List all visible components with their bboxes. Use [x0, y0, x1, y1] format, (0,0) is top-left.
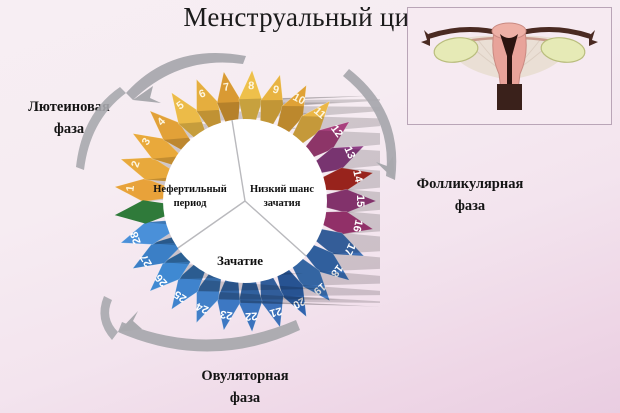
lowchance-line2: зачатия	[264, 198, 301, 209]
center-label-low-chance: Низкий шанс зачатия	[240, 183, 324, 211]
infertile-line1: Нефертильный	[153, 184, 227, 195]
infographic-canvas: Менструальный цикл	[0, 0, 620, 413]
petal-day-label-23: 23	[219, 308, 233, 322]
follicular-line1: Фолликулярная	[390, 173, 550, 195]
petal-shade-15	[319, 189, 380, 212]
label-follicular-phase: Фолликулярная фаза	[390, 173, 550, 218]
ovulatory-line2: фаза	[150, 387, 340, 409]
petal-day-label-8: 8	[248, 80, 255, 92]
lowchance-line1: Низкий шанс	[250, 184, 314, 195]
center-label-infertile: Нефертильный период	[148, 183, 232, 211]
petal-day-label-15: 15	[354, 195, 366, 207]
petal-day-label-22: 22	[245, 310, 258, 323]
petal-day-label-16: 16	[350, 218, 364, 233]
petal-day-label-1: 1	[124, 185, 137, 192]
follicular-line2: фаза	[390, 195, 550, 217]
infertile-line2: период	[174, 198, 207, 209]
conception-line1: Зачатие	[217, 253, 263, 268]
anatomy-panel	[407, 7, 612, 125]
label-ovulatory-phase: Овуляторная фаза	[150, 365, 340, 410]
center-label-conception: Зачатие	[190, 252, 290, 270]
uterus-ovaries-diagram	[408, 8, 611, 124]
ovulatory-line1: Овуляторная	[150, 365, 340, 387]
